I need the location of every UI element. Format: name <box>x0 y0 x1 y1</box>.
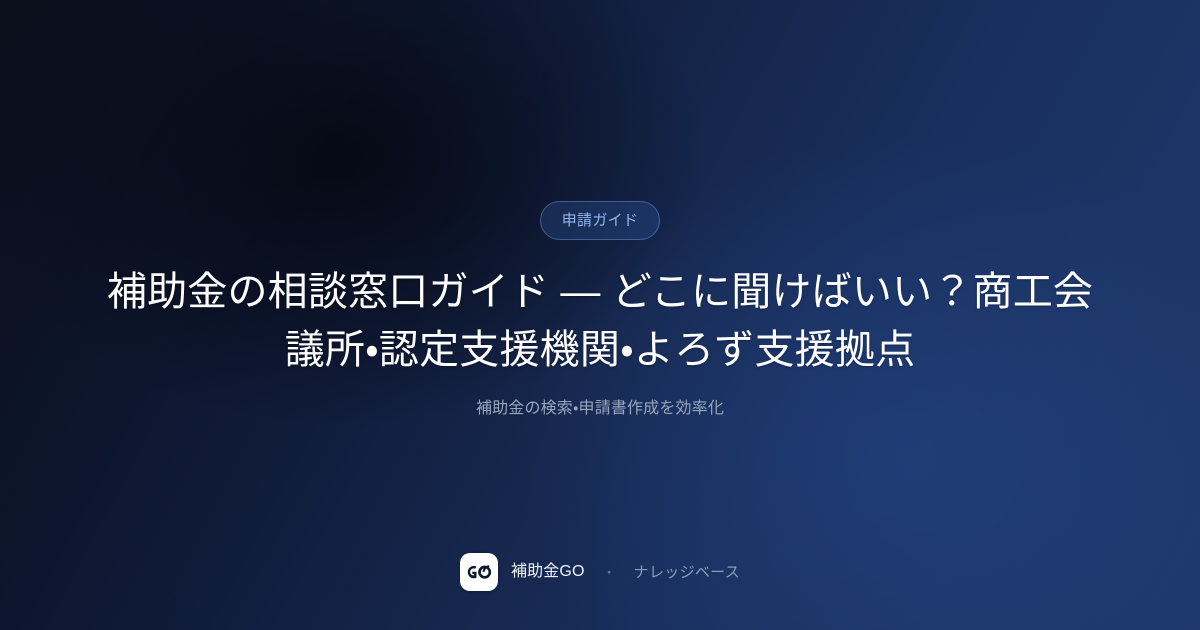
card-content: 申請ガイド 補助金の相談窓口ガイド — どこに聞けばいい？商工会議所・認定支援機… <box>0 0 1200 630</box>
category-badge-row: 申請ガイド <box>540 201 661 240</box>
page-subtitle: 補助金の検索・申請書作成を効率化 <box>476 397 724 421</box>
og-card: 申請ガイド 補助金の相談窓口ガイド — どこに聞けばいい？商工会議所・認定支援機… <box>0 0 1200 630</box>
category-badge: 申請ガイド <box>540 201 661 240</box>
page-title: 補助金の相談窓口ガイド — どこに聞けばいい？商工会議所・認定支援機関・よろず支… <box>95 263 1105 379</box>
